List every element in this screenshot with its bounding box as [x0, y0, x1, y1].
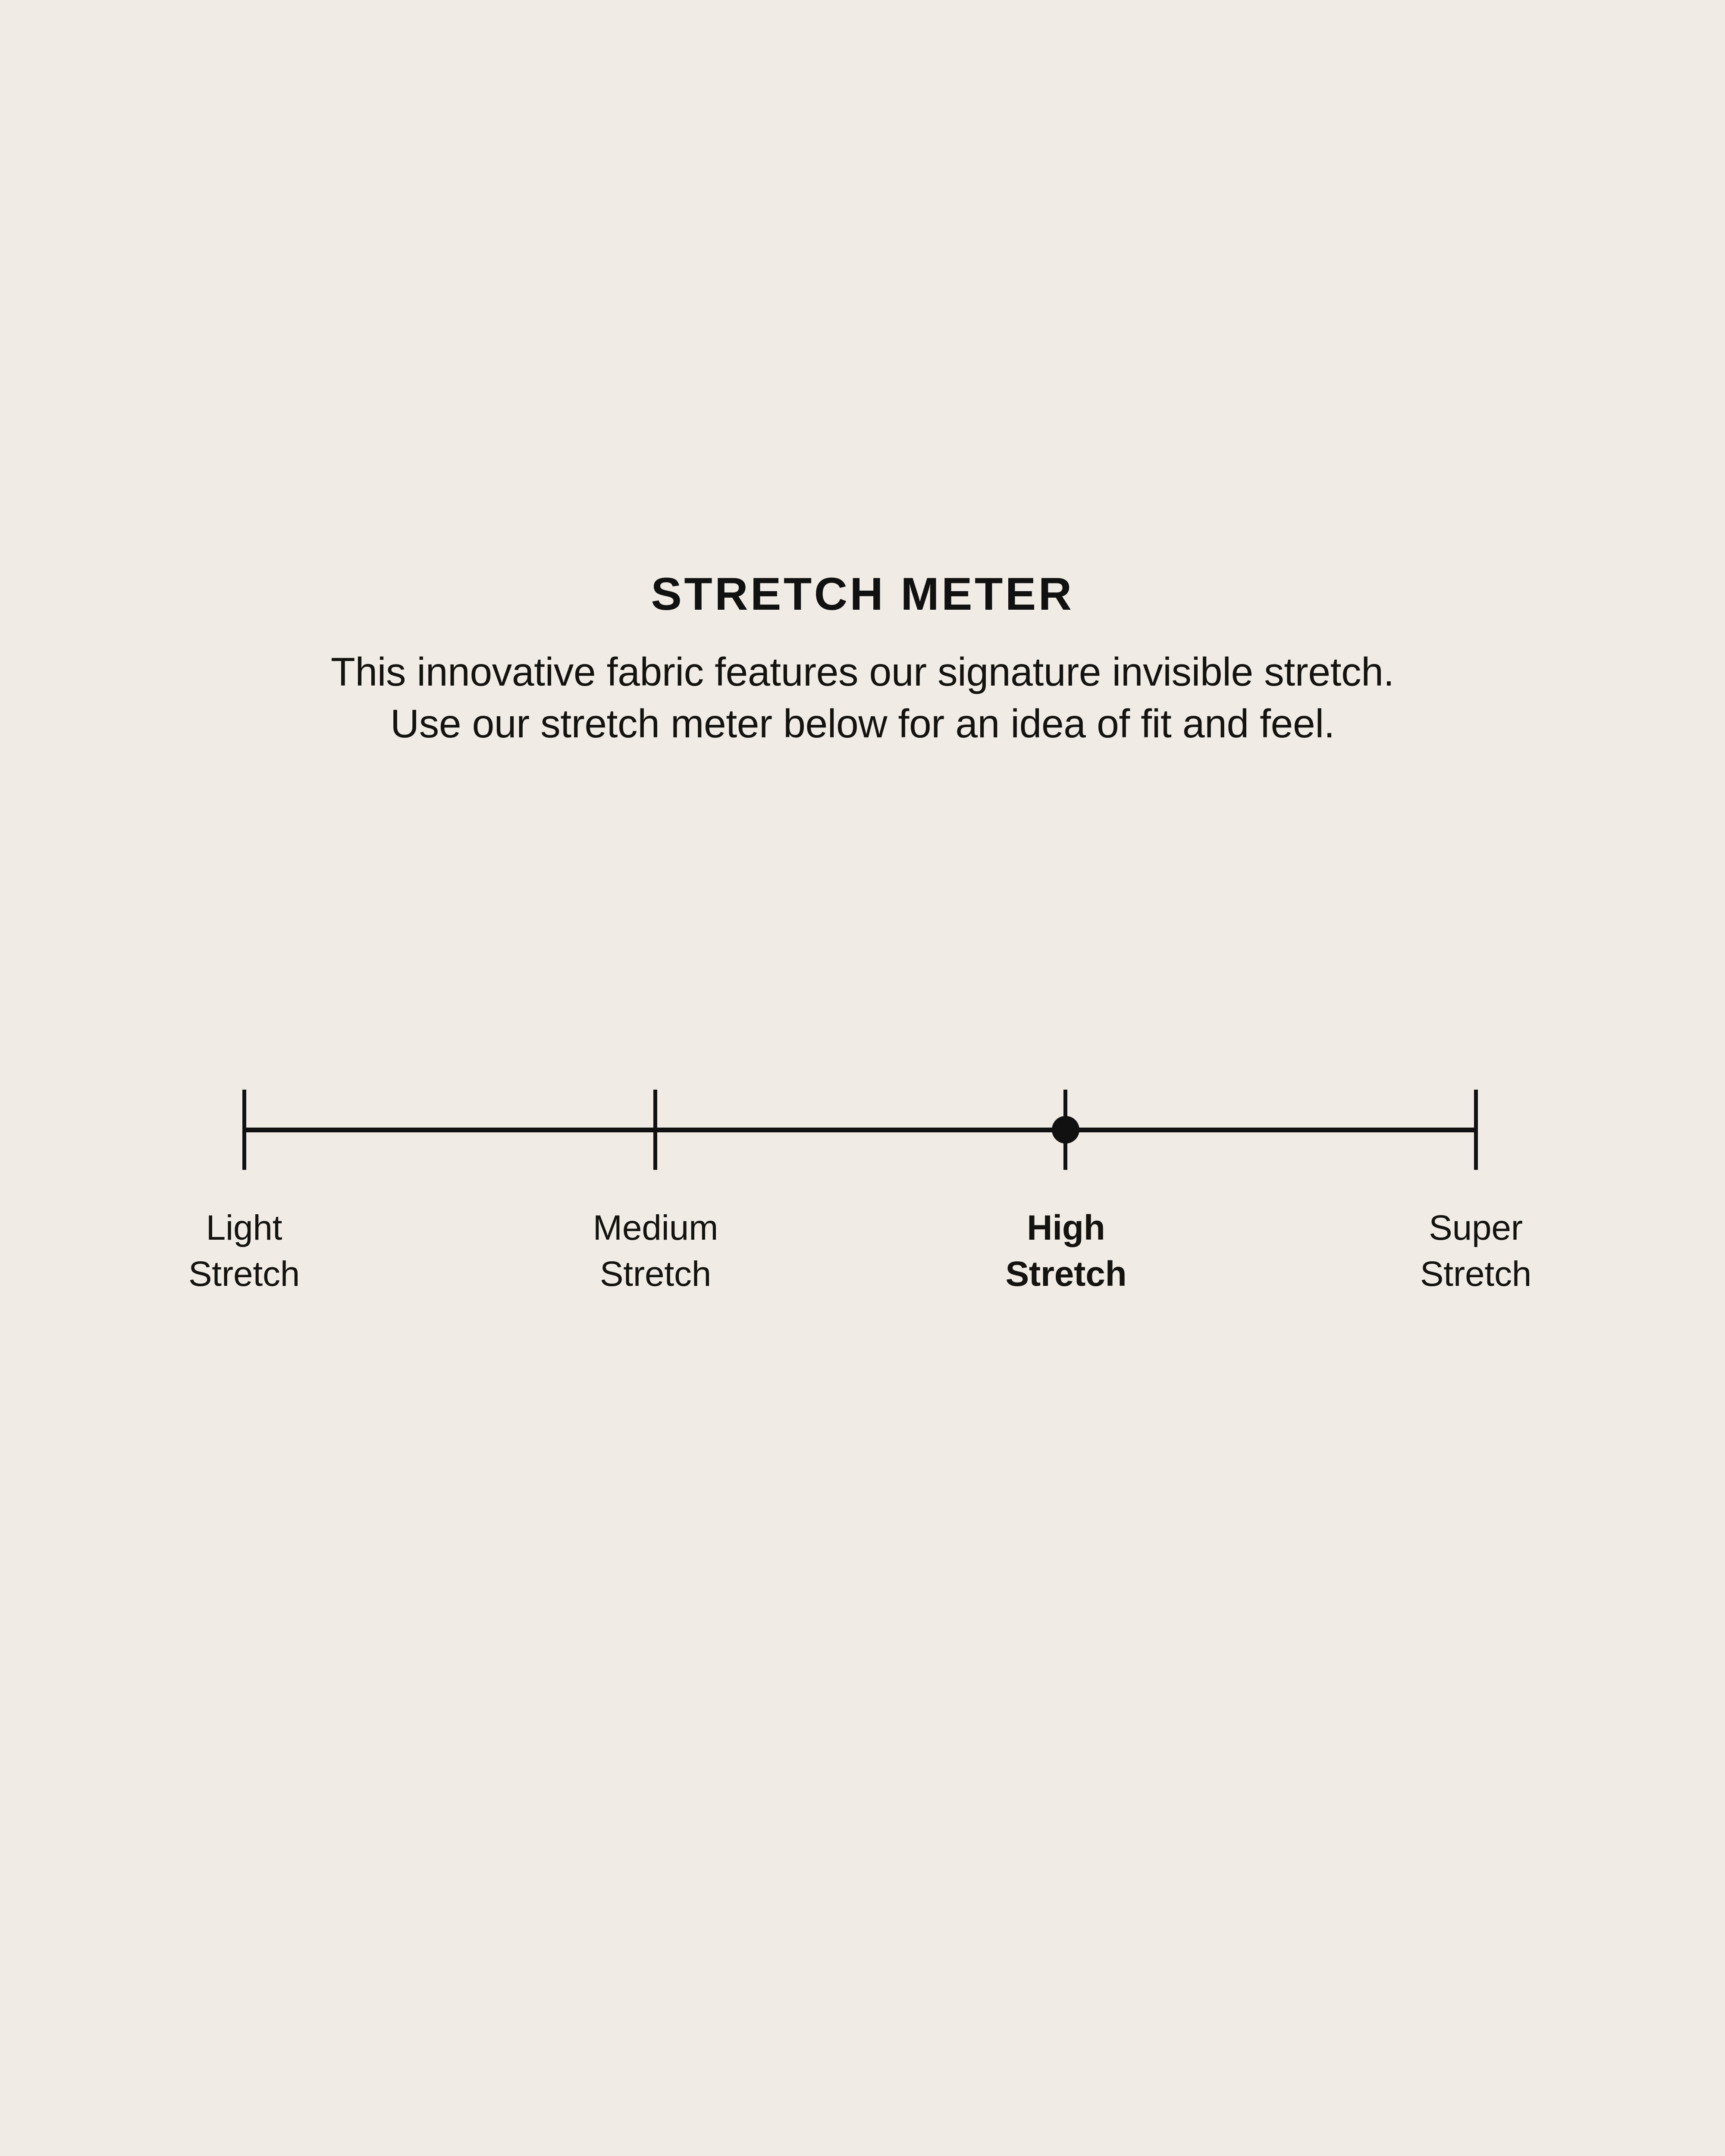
meter-label-light[interactable]: Light Stretch [93, 1205, 395, 1297]
meter-label-medium-line1: Medium [505, 1205, 806, 1251]
stretch-meter-panel: STRETCH METER This innovative fabric fea… [0, 0, 1725, 2156]
meter-label-high-line1: High [915, 1205, 1217, 1251]
meter-label-medium[interactable]: Medium Stretch [505, 1205, 806, 1297]
meter-tick-light[interactable] [242, 1090, 246, 1170]
meter-label-medium-line2: Stretch [505, 1251, 806, 1297]
stretch-meter-scale[interactable] [244, 1090, 1476, 1170]
meter-tick-super[interactable] [1474, 1090, 1478, 1170]
panel-header: STRETCH METER This innovative fabric fea… [0, 569, 1725, 750]
meter-label-super-line2: Stretch [1325, 1251, 1627, 1297]
meter-label-light-line1: Light [93, 1205, 395, 1251]
filled-circle-marker-icon [1052, 1116, 1079, 1144]
meter-label-high[interactable]: High Stretch [915, 1205, 1217, 1297]
page-title: STRETCH METER [0, 569, 1725, 619]
meter-label-high-line2: Stretch [915, 1251, 1217, 1297]
meter-label-super[interactable]: Super Stretch [1325, 1205, 1627, 1297]
panel-description: This innovative fabric features our sign… [317, 619, 1408, 750]
meter-tick-medium[interactable] [653, 1090, 657, 1170]
meter-track-line [244, 1128, 1476, 1132]
meter-label-light-line2: Stretch [93, 1251, 395, 1297]
meter-label-super-line1: Super [1325, 1205, 1627, 1251]
meter-label-row: Light Stretch Medium Stretch High Stretc… [0, 1205, 1725, 1317]
